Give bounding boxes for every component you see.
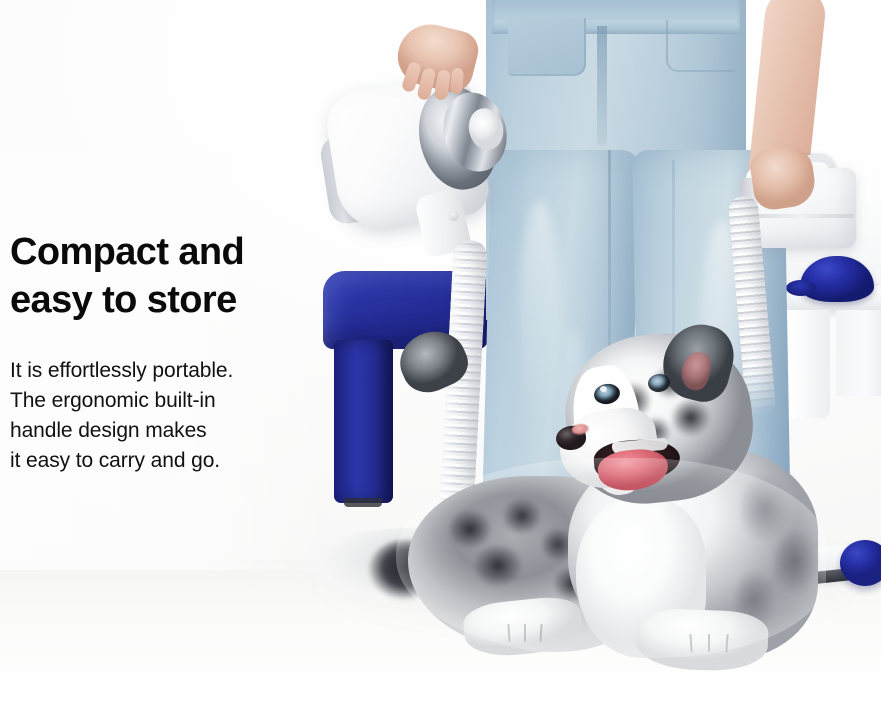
yarn-ball-floor bbox=[840, 540, 881, 586]
dog-toe bbox=[708, 634, 710, 652]
dog-nose-highlight bbox=[572, 424, 590, 436]
dog-eye-highlight bbox=[600, 386, 607, 392]
jeans-pocket-left bbox=[508, 18, 586, 76]
dog-ear-left bbox=[391, 321, 475, 401]
dog-toe bbox=[524, 624, 526, 642]
grooming-nozzle-button bbox=[449, 211, 459, 221]
dog-paw-right bbox=[635, 608, 769, 673]
white-side-table-leg-back bbox=[836, 310, 881, 396]
copy-block: Compact and easy to store It is effortle… bbox=[10, 228, 310, 476]
promo-banner: Compact and easy to store It is effortle… bbox=[0, 0, 881, 705]
body-copy: It is effortlessly portable. The ergonom… bbox=[10, 356, 310, 476]
dog bbox=[276, 318, 816, 688]
jeans-fly bbox=[597, 26, 607, 146]
finger bbox=[450, 68, 464, 95]
main-unit-seam bbox=[748, 214, 854, 218]
jeans-pocket-right bbox=[666, 20, 736, 72]
headline: Compact and easy to store bbox=[10, 228, 310, 324]
